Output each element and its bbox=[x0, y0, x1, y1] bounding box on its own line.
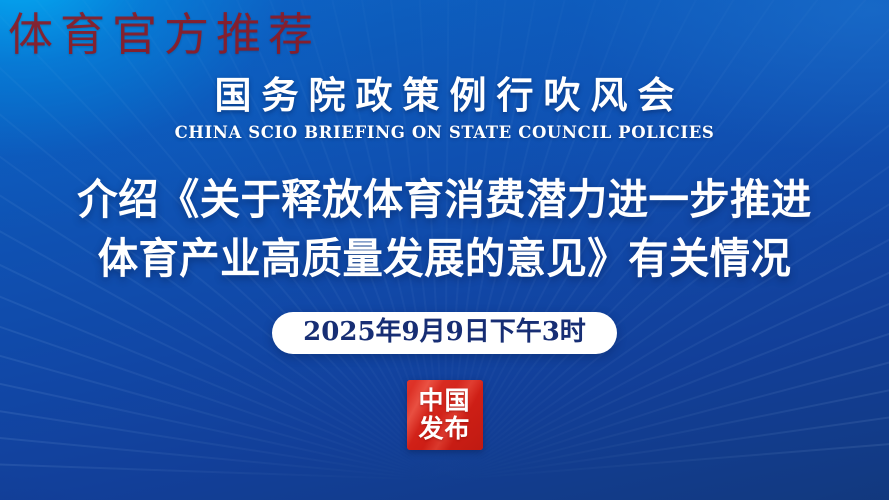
schedule-datetime-label: 2025年9月9日下午3时 bbox=[303, 319, 586, 345]
china-release-logo: 中国 发布 bbox=[407, 380, 483, 450]
logo-line-2: 发布 bbox=[418, 415, 470, 443]
headline-line-2: 体育产业高质量发展的意见》有关情况 bbox=[77, 229, 811, 288]
organization-subtitle-english: CHINA SCIO BRIEFING ON STATE COUNCIL POL… bbox=[175, 123, 715, 142]
headline-block: 介绍《关于释放体育消费潜力进一步推进 体育产业高质量发展的意见》有关情况 bbox=[62, 170, 827, 288]
schedule-pill: 2025年9月9日下午3时 bbox=[272, 312, 617, 354]
headline-line-1: 介绍《关于释放体育消费潜力进一步推进 bbox=[77, 170, 811, 229]
poster-content: 国务院政策例行吹风会 CHINA SCIO BRIEFING ON STATE … bbox=[0, 0, 889, 500]
organization-title: 国务院政策例行吹风会 bbox=[205, 76, 685, 116]
briefing-poster: 体育官方推荐 国务院政策例行吹风会 CHINA SCIO BRIEFING ON… bbox=[0, 0, 889, 500]
watermark-text: 体育官方推荐 bbox=[8, 0, 320, 63]
logo-line-1: 中国 bbox=[418, 387, 470, 415]
